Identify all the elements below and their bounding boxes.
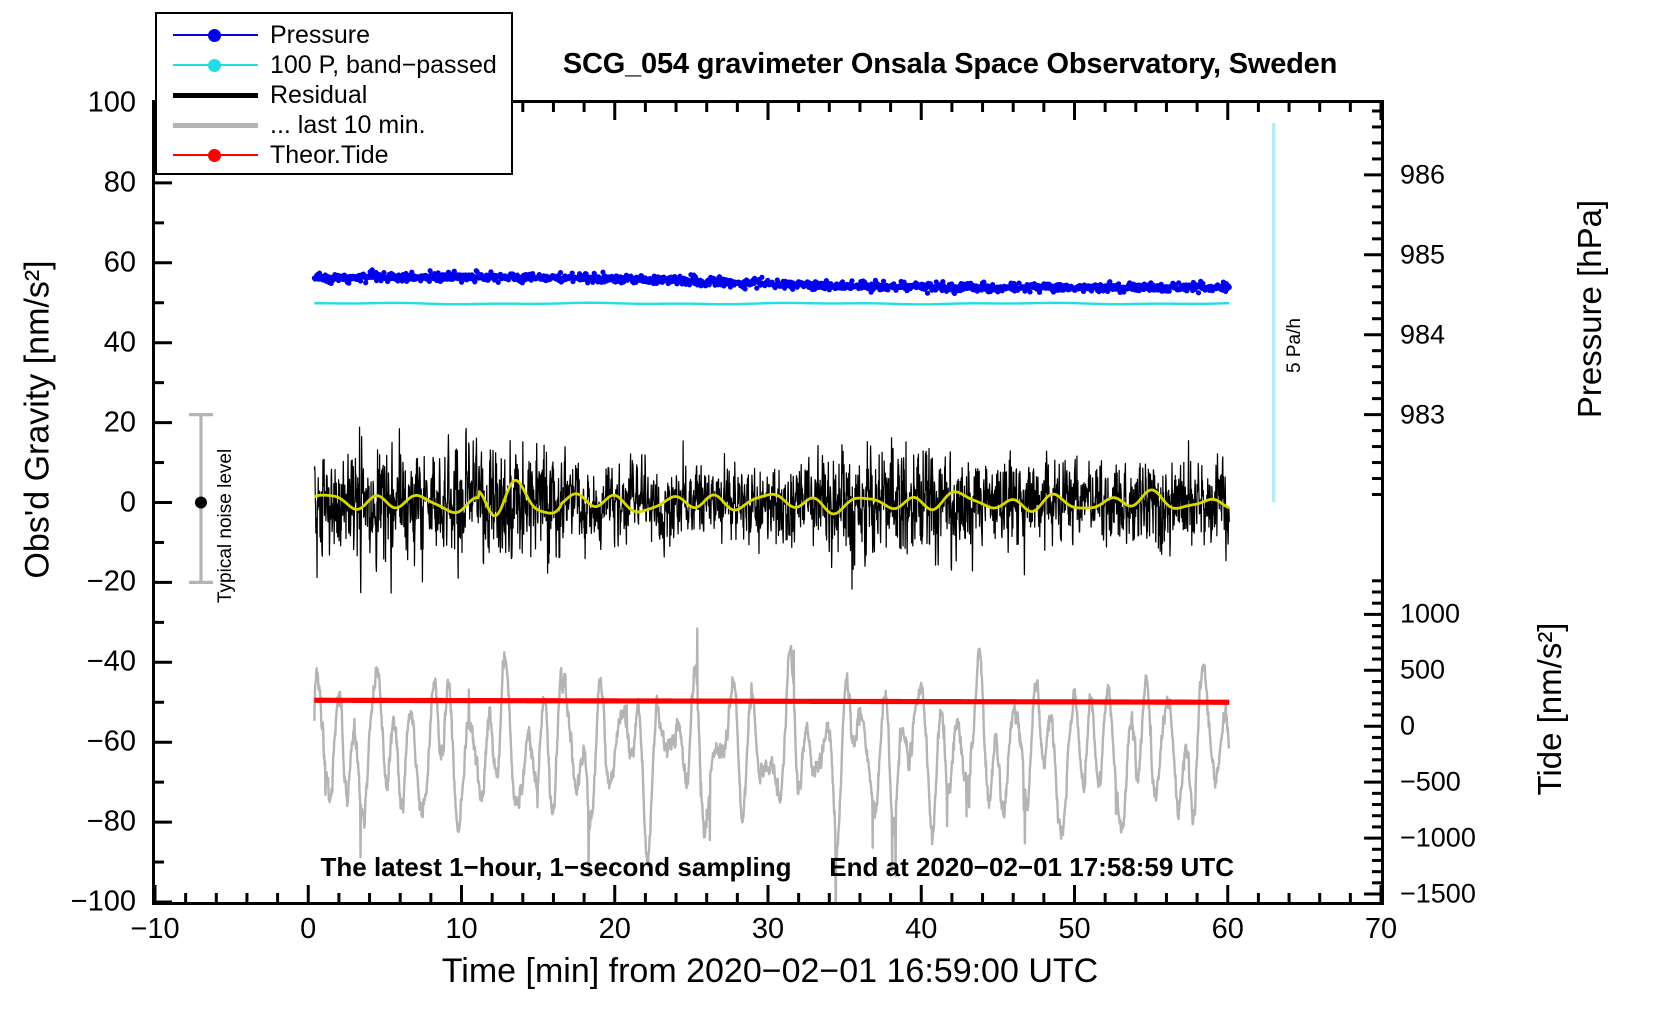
x-tick-label: 40: [861, 913, 981, 946]
legend-dot-icon: [208, 29, 221, 42]
legend-label-bandpassed: 100 P, band−passed: [270, 53, 497, 78]
legend-swatch-last10min: [173, 114, 258, 136]
series-bandpassed: [314, 303, 1229, 305]
series-residual: [314, 427, 1229, 593]
y-tick-label-left: −20: [26, 566, 136, 599]
legend-swatch-bandpassed: [173, 54, 258, 76]
y-tick-label-pressure: 986: [1400, 159, 1445, 190]
chart-legend: Pressure 100 P, band−passed Residual ...…: [155, 12, 513, 175]
pressure-point: [1196, 290, 1201, 295]
legend-item-theortide[interactable]: Theor.Tide: [157, 140, 511, 170]
legend-swatch-pressure: [173, 24, 258, 46]
y-tick-label-pressure: 983: [1400, 399, 1445, 430]
x-tick-label: 60: [1168, 913, 1288, 946]
legend-dot-icon: [208, 149, 221, 162]
y-tick-label-left: 20: [26, 406, 136, 439]
y-axis-title-tide: Tide [nm/s²]: [1531, 534, 1569, 884]
y-tick-label-pressure: 985: [1400, 239, 1445, 270]
chart-page: SCG_054 gravimeter Onsala Space Observat…: [0, 0, 1660, 1020]
pressure-point: [925, 291, 930, 296]
y-tick-label-tide: 1000: [1400, 599, 1460, 630]
pressure-point: [358, 278, 363, 283]
y-tick-label-left: 40: [26, 326, 136, 359]
pressure-point: [558, 270, 563, 275]
x-tick-label: 50: [1015, 913, 1135, 946]
y-tick-label-left: −40: [26, 646, 136, 679]
pressure-point: [428, 268, 433, 273]
y-axis-title-pressure: Pressure [hPa]: [1571, 99, 1609, 519]
series-theor-tide: [314, 700, 1229, 702]
pressure-point: [849, 278, 854, 283]
y-tick-label-left: 0: [26, 486, 136, 519]
legend-label-theortide: Theor.Tide: [270, 143, 389, 168]
x-tick-label: 20: [555, 913, 675, 946]
x-axis-title: Time [min] from 2020−02−01 16:59:00 UTC: [0, 952, 1540, 991]
y-tick-label-tide: −500: [1400, 767, 1461, 798]
legend-item-bandpassed[interactable]: 100 P, band−passed: [157, 50, 511, 80]
y-tick-label-tide: 0: [1400, 711, 1415, 742]
pressure-point: [1027, 289, 1032, 294]
legend-line-icon: [173, 93, 258, 98]
legend-label-residual: Residual: [270, 83, 367, 108]
typical-noise-level-label: Typical noise level: [215, 448, 237, 602]
y-tick-label-left: 60: [26, 246, 136, 279]
x-tick-label: 0: [248, 913, 368, 946]
legend-item-residual[interactable]: Residual: [157, 80, 511, 110]
pressure-point: [381, 270, 386, 275]
legend-label-last10min: ... last 10 min.: [270, 113, 426, 138]
legend-line-icon: [173, 123, 258, 128]
y-tick-label-left: −80: [26, 806, 136, 839]
end-time-note: End at 2020−02−01 17:58:59 UTC: [829, 852, 1234, 883]
chart-title: SCG_054 gravimeter Onsala Space Observat…: [420, 48, 1480, 81]
pressure-point: [759, 275, 764, 280]
pressure-point: [742, 286, 747, 291]
plot-canvas: [155, 103, 1381, 902]
x-tick-label: 70: [1321, 913, 1441, 946]
pressure-point: [1227, 285, 1232, 290]
y-tick-label-left: 80: [26, 166, 136, 199]
legend-label-pressure: Pressure: [270, 23, 370, 48]
y-tick-label-left: −60: [26, 726, 136, 759]
y-tick-label-pressure: 984: [1400, 319, 1445, 350]
y-tick-label-tide: 500: [1400, 655, 1445, 686]
noise-bar-center-dot: [195, 497, 207, 509]
series-pressure: [312, 267, 1232, 296]
x-tick-label: 30: [708, 913, 828, 946]
legend-item-last10min[interactable]: ... last 10 min.: [157, 110, 511, 140]
y-tick-label-tide: −1500: [1400, 879, 1476, 910]
y-tick-label-tide: −1000: [1400, 823, 1476, 854]
x-tick-label: −10: [95, 913, 215, 946]
y-tick-label-left: 100: [26, 87, 136, 120]
pressure-scale-label: 5 Pa/h: [1284, 318, 1306, 373]
legend-item-pressure[interactable]: Pressure: [157, 20, 511, 50]
sampling-note: The latest 1−hour, 1−second sampling: [321, 852, 792, 883]
legend-swatch-theortide: [173, 144, 258, 166]
x-tick-label: 10: [402, 913, 522, 946]
legend-swatch-residual: [173, 84, 258, 106]
plot-area: [152, 100, 1384, 905]
legend-dot-icon: [208, 59, 221, 72]
